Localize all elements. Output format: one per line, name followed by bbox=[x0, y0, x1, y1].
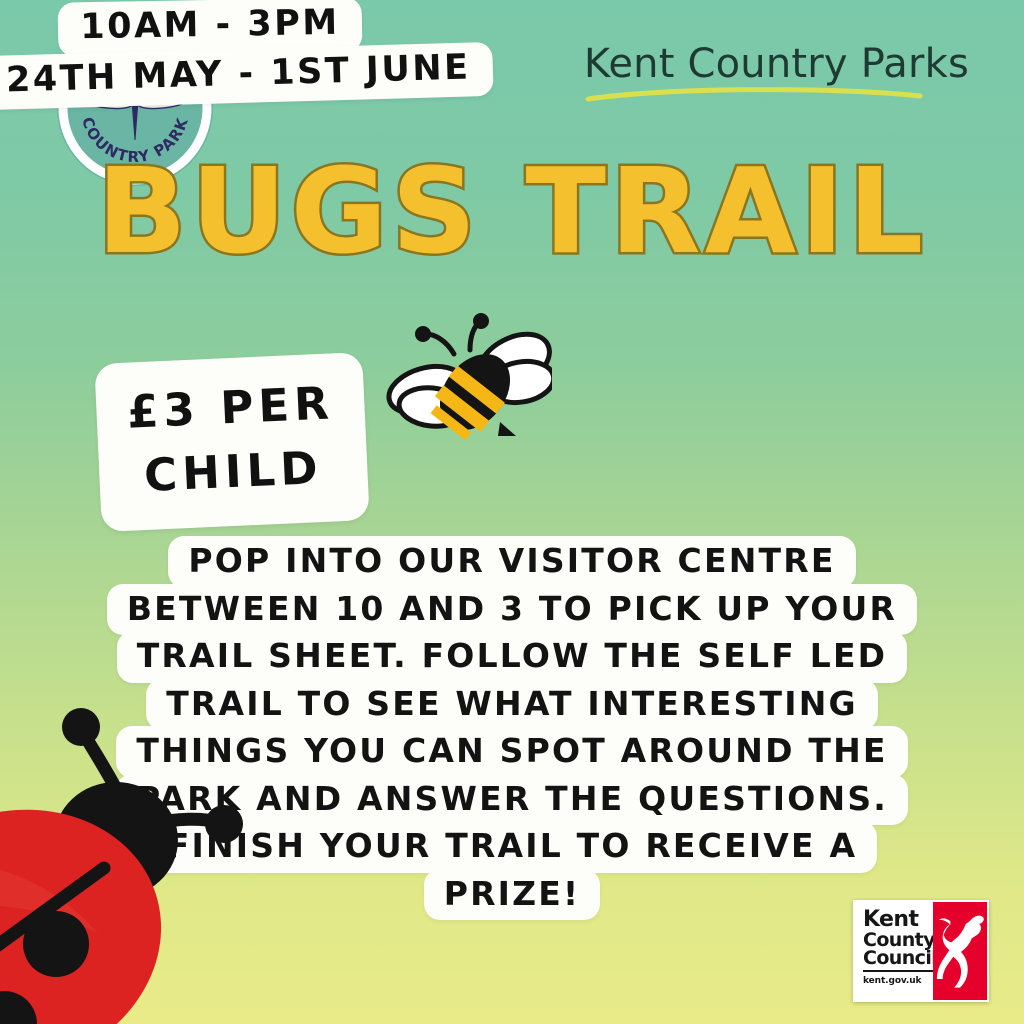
kent-county-council-logo: Kent County Council kent.gov.uk bbox=[853, 900, 989, 1002]
page-title: BUGS TRAIL bbox=[0, 152, 1024, 270]
body-copy-line: PRIZE! bbox=[424, 869, 601, 921]
body-copy-line: BETWEEN 10 AND 3 TO PICK UP YOUR bbox=[107, 584, 917, 636]
kcc-url: kent.gov.uk bbox=[863, 976, 933, 986]
body-copy-line: POP INTO OUR VISITOR CENTRE bbox=[168, 536, 855, 588]
swoosh-underline-icon bbox=[584, 86, 924, 102]
kent-country-parks-text: Kent Country Parks bbox=[584, 44, 969, 84]
schedule-badge: 10AM - 3PM 24TH MAY - 1ST JUNE bbox=[0, 0, 420, 104]
kcc-line-3: Council bbox=[863, 949, 937, 972]
kent-country-parks-wordmark: Kent Country Parks bbox=[584, 44, 969, 102]
kcc-crest-panel bbox=[933, 902, 987, 1000]
title-block: BUGS TRAIL bbox=[0, 152, 1024, 270]
bee-icon bbox=[382, 312, 552, 457]
kcc-text-panel: Kent County Council kent.gov.uk bbox=[855, 902, 933, 1000]
price-line-1: £3 PER bbox=[95, 370, 366, 446]
ladybird-icon bbox=[0, 672, 280, 1024]
kcc-line-1: Kent bbox=[863, 909, 933, 931]
price-badge: £3 PER CHILD bbox=[94, 352, 369, 532]
rearing-horse-icon bbox=[933, 902, 987, 1000]
price-line-2: CHILD bbox=[98, 434, 369, 510]
poster-canvas: SHORNE WOODS COUNTRY PARK Kent Country P… bbox=[0, 0, 1024, 1024]
